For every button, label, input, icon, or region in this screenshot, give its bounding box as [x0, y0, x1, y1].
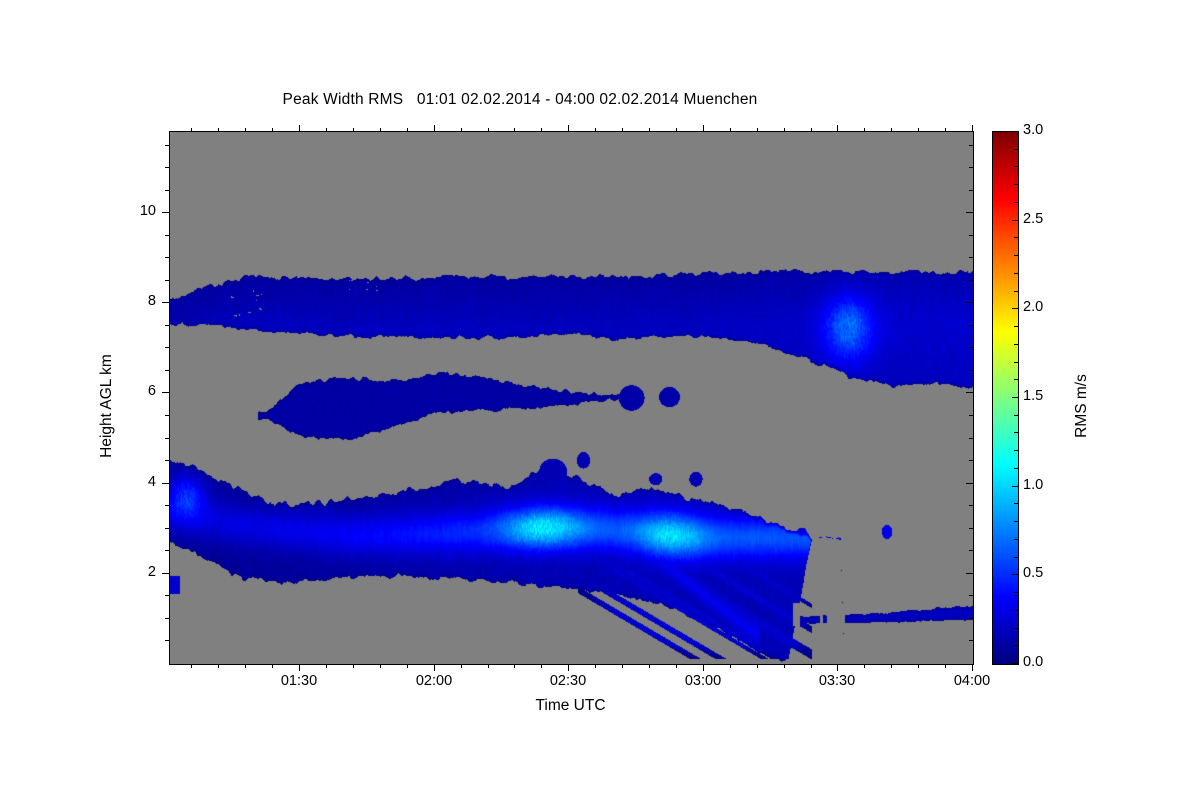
- x-tick-minor: [918, 128, 919, 132]
- x-tick-minor: [864, 128, 865, 132]
- y-tick-minor: [165, 550, 169, 551]
- y-tick-minor: [165, 595, 169, 596]
- colorbar-tick-minor: [1014, 166, 1018, 167]
- x-tick-major: [568, 664, 569, 671]
- plot-title: Peak Width RMS 01:01 02.02.2014 - 04:00 …: [0, 91, 1040, 109]
- y-tick-major: [162, 483, 169, 484]
- y-tick-minor: [165, 370, 169, 371]
- colorbar-tick-minor: [1014, 184, 1018, 185]
- y-tick-minor: [165, 415, 169, 416]
- x-tick-minor: [918, 664, 919, 668]
- x-tick-minor: [595, 664, 596, 668]
- colorbar-tick-minor: [1014, 432, 1018, 433]
- x-tick-minor: [380, 128, 381, 132]
- x-tick-minor: [757, 128, 758, 132]
- x-tick-minor: [784, 128, 785, 132]
- y-tick-major: [966, 483, 973, 484]
- colorbar-tick-minor: [1014, 237, 1018, 238]
- colorbar-tick-minor: [1014, 379, 1018, 380]
- colorbar-tick-minor: [1014, 539, 1018, 540]
- x-tick-minor: [353, 664, 354, 668]
- y-tick-minor: [969, 235, 973, 236]
- colorbar-tick-minor: [1014, 592, 1018, 593]
- y-tick-major: [162, 302, 169, 303]
- y-tick-minor: [165, 167, 169, 168]
- x-tick-minor: [488, 664, 489, 668]
- colorbar-tick-minor: [1014, 521, 1018, 522]
- heatmap-image: [170, 132, 973, 664]
- x-tick-major: [568, 125, 569, 132]
- x-tick-major: [434, 664, 435, 671]
- x-tick-minor: [514, 128, 515, 132]
- plot-area[interactable]: [169, 131, 974, 665]
- colorbar-tick-label-3-0: 3.0: [1023, 122, 1043, 138]
- y-tick-label-4: 4: [116, 474, 156, 490]
- y-tick-label-6: 6: [116, 383, 156, 399]
- x-tick-minor: [245, 128, 246, 132]
- y-tick-minor: [165, 460, 169, 461]
- y-tick-minor: [969, 167, 973, 168]
- y-tick-major: [162, 212, 169, 213]
- colorbar-tick-minor: [1014, 645, 1018, 646]
- colorbar-tick-minor: [1014, 628, 1018, 629]
- x-tick-minor: [407, 664, 408, 668]
- x-tick-minor: [514, 664, 515, 668]
- colorbar-tick-label-2-5: 2.5: [1023, 211, 1043, 227]
- y-tick-major: [966, 392, 973, 393]
- x-tick-minor: [218, 128, 219, 132]
- x-tick-minor: [864, 664, 865, 668]
- colorbar-tick-minor: [1014, 610, 1018, 611]
- x-tick-label-0230: 02:30: [533, 673, 603, 689]
- x-tick-major: [299, 125, 300, 132]
- colorbar-tick-minor: [1014, 273, 1018, 274]
- x-tick-minor: [380, 664, 381, 668]
- y-tick-minor: [165, 257, 169, 258]
- x-tick-minor: [541, 664, 542, 668]
- colorbar-tick-minor: [1014, 326, 1018, 327]
- x-tick-label-0130: 01:30: [264, 673, 334, 689]
- x-tick-minor: [245, 664, 246, 668]
- y-tick-minor: [165, 640, 169, 641]
- colorbar-tick-label-0-0: 0.0: [1023, 654, 1043, 670]
- x-tick-minor: [730, 664, 731, 668]
- x-tick-label-0300: 03:00: [668, 673, 738, 689]
- y-tick-minor: [969, 347, 973, 348]
- x-tick-minor: [461, 128, 462, 132]
- y-tick-minor: [969, 505, 973, 506]
- y-tick-major: [162, 573, 169, 574]
- y-tick-minor: [969, 280, 973, 281]
- y-tick-minor: [969, 415, 973, 416]
- y-tick-major: [966, 573, 973, 574]
- y-tick-minor: [969, 595, 973, 596]
- colorbar-tick-minor: [1014, 291, 1018, 292]
- x-tick-major: [972, 125, 973, 132]
- colorbar-tick-major: [1012, 220, 1018, 221]
- colorbar-tick-minor: [1014, 344, 1018, 345]
- x-tick-minor: [784, 664, 785, 668]
- colorbar[interactable]: [992, 131, 1019, 665]
- x-tick-minor: [811, 664, 812, 668]
- y-tick-minor: [969, 438, 973, 439]
- colorbar-tick-minor: [1014, 255, 1018, 256]
- x-tick-minor: [191, 128, 192, 132]
- colorbar-tick-major: [1012, 663, 1018, 664]
- x-tick-minor: [649, 664, 650, 668]
- y-tick-minor: [165, 347, 169, 348]
- colorbar-tick-minor: [1014, 450, 1018, 451]
- x-tick-label-0200: 02:00: [399, 673, 469, 689]
- y-tick-minor: [165, 190, 169, 191]
- colorbar-tick-major: [1012, 308, 1018, 309]
- y-tick-label-8: 8: [116, 293, 156, 309]
- y-axis-title: Height AGL km: [98, 286, 116, 526]
- y-tick-minor: [165, 618, 169, 619]
- x-tick-minor: [622, 664, 623, 668]
- x-tick-major: [837, 664, 838, 671]
- figure-canvas: Peak Width RMS 01:01 02.02.2014 - 04:00 …: [0, 0, 1200, 800]
- y-tick-minor: [165, 325, 169, 326]
- y-tick-minor: [165, 235, 169, 236]
- x-tick-minor: [461, 664, 462, 668]
- x-tick-minor: [891, 664, 892, 668]
- y-tick-minor: [969, 257, 973, 258]
- colorbar-tick-major: [1012, 131, 1018, 132]
- x-tick-minor: [945, 664, 946, 668]
- colorbar-tick-minor: [1014, 415, 1018, 416]
- y-tick-minor: [969, 640, 973, 641]
- x-tick-minor: [326, 664, 327, 668]
- x-tick-minor: [945, 128, 946, 132]
- y-tick-minor: [969, 370, 973, 371]
- x-tick-minor: [891, 128, 892, 132]
- x-tick-minor: [730, 128, 731, 132]
- colorbar-tick-minor: [1014, 486, 1018, 487]
- x-tick-major: [299, 664, 300, 671]
- x-tick-major: [703, 125, 704, 132]
- colorbar-tick-label-1-5: 1.5: [1023, 388, 1043, 404]
- y-tick-minor: [969, 460, 973, 461]
- y-tick-major: [162, 392, 169, 393]
- x-tick-minor: [218, 664, 219, 668]
- x-tick-minor: [353, 128, 354, 132]
- x-tick-minor: [541, 128, 542, 132]
- x-axis-title: Time UTC: [169, 697, 972, 715]
- y-tick-minor: [969, 528, 973, 529]
- x-tick-label-0400: 04:00: [937, 673, 1007, 689]
- x-tick-major: [434, 125, 435, 132]
- y-tick-label-10: 10: [116, 203, 156, 219]
- colorbar-title: RMS m/s: [1073, 306, 1091, 506]
- y-tick-minor: [969, 618, 973, 619]
- colorbar-tick-minor: [1014, 468, 1018, 469]
- y-tick-minor: [165, 438, 169, 439]
- x-tick-minor: [326, 128, 327, 132]
- x-tick-minor: [191, 664, 192, 668]
- colorbar-tick-label-0-5: 0.5: [1023, 565, 1043, 581]
- y-tick-major: [966, 212, 973, 213]
- y-tick-minor: [969, 190, 973, 191]
- colorbar-tick-minor: [1014, 202, 1018, 203]
- y-tick-minor: [165, 528, 169, 529]
- x-tick-minor: [811, 128, 812, 132]
- y-tick-minor: [165, 280, 169, 281]
- y-tick-minor: [969, 550, 973, 551]
- x-tick-minor: [272, 664, 273, 668]
- colorbar-tick-label-2-0: 2.0: [1023, 299, 1043, 315]
- x-tick-minor: [676, 128, 677, 132]
- colorbar-tick-minor: [1014, 149, 1018, 150]
- x-tick-minor: [407, 128, 408, 132]
- y-tick-minor: [969, 145, 973, 146]
- y-tick-minor: [969, 325, 973, 326]
- y-tick-minor: [165, 505, 169, 506]
- colorbar-tick-label-1-0: 1.0: [1023, 477, 1043, 493]
- y-tick-label-2: 2: [116, 564, 156, 580]
- colorbar-tick-major: [1012, 397, 1018, 398]
- x-tick-label-0330: 03:30: [802, 673, 872, 689]
- x-tick-minor: [595, 128, 596, 132]
- x-tick-major: [837, 125, 838, 132]
- x-tick-minor: [622, 128, 623, 132]
- x-tick-minor: [272, 128, 273, 132]
- colorbar-gradient: [993, 132, 1018, 664]
- x-tick-minor: [757, 664, 758, 668]
- colorbar-tick-minor: [1014, 503, 1018, 504]
- y-tick-minor: [165, 145, 169, 146]
- x-tick-minor: [488, 128, 489, 132]
- colorbar-tick-minor: [1014, 362, 1018, 363]
- y-tick-major: [966, 302, 973, 303]
- x-tick-major: [972, 664, 973, 671]
- x-tick-major: [703, 664, 704, 671]
- x-tick-minor: [676, 664, 677, 668]
- x-tick-minor: [649, 128, 650, 132]
- colorbar-tick-minor: [1014, 557, 1018, 558]
- colorbar-tick-major: [1012, 574, 1018, 575]
